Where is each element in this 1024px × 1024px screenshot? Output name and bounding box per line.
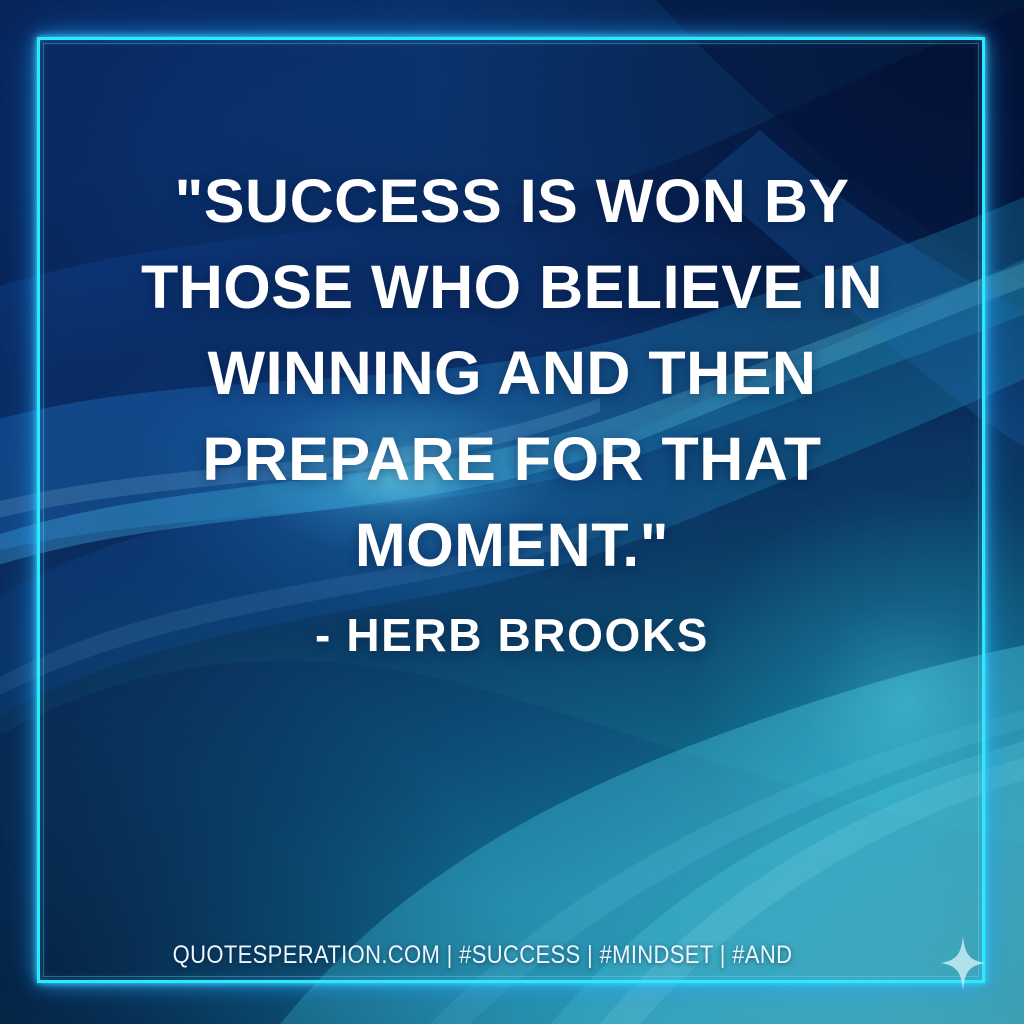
quote-line-2: THOSE WHO BELIEVE IN	[60, 244, 964, 330]
poster-content: "SUCCESS IS WON BY THOSE WHO BELIEVE IN …	[0, 0, 1024, 1024]
quote-attribution: - HERB BROOKS	[60, 608, 964, 662]
quote-poster: "SUCCESS IS WON BY THOSE WHO BELIEVE IN …	[0, 0, 1024, 1024]
footer-credit: QUOTESPERATION.COM | #SUCCESS | #MINDSET…	[111, 941, 855, 970]
quote-line-5: MOMENT."	[60, 502, 964, 588]
quote-line-3: WINNING AND THEN	[60, 330, 964, 416]
quote-line-4: PREPARE FOR THAT	[60, 416, 964, 502]
quote-text: "SUCCESS IS WON BY THOSE WHO BELIEVE IN …	[60, 158, 964, 588]
quote-line-1: "SUCCESS IS WON BY	[60, 158, 964, 244]
sparkle-star-icon	[941, 936, 985, 990]
